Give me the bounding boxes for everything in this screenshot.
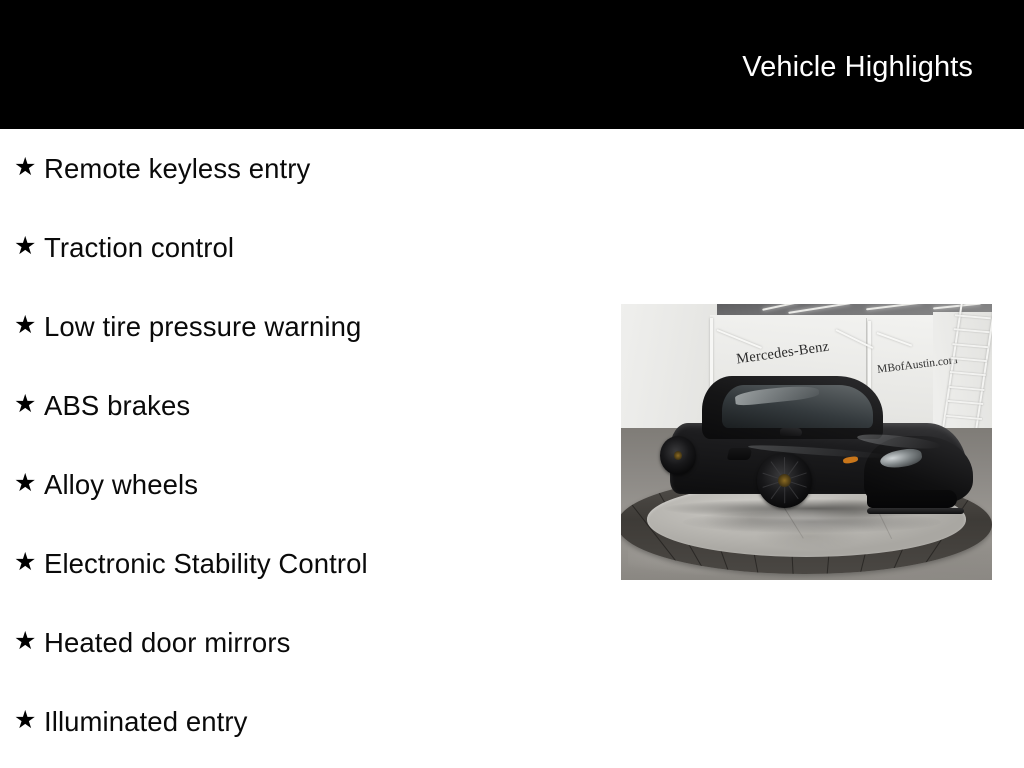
- rear-wheel: [660, 436, 696, 475]
- star-bullet-icon: ★: [14, 471, 44, 496]
- highlight-label: Remote keyless entry: [44, 153, 310, 185]
- ladder-rung: [952, 343, 989, 348]
- star-bullet-icon: ★: [14, 155, 44, 180]
- vehicle-highlights-page: Vehicle Highlights ★ Remote keyless entr…: [0, 0, 1024, 768]
- vehicle-highlights-list: ★ Remote keyless entry ★ Traction contro…: [0, 129, 600, 761]
- highlight-label: Illuminated entry: [44, 706, 247, 738]
- star-bullet-icon: ★: [14, 550, 44, 575]
- page-title: Vehicle Highlights: [742, 50, 973, 84]
- ceiling-light: [762, 304, 799, 311]
- list-item: ★ Illuminated entry: [0, 682, 600, 761]
- highlight-label: Traction control: [44, 232, 234, 264]
- ceiling-light: [788, 304, 851, 314]
- star-bullet-icon: ★: [14, 708, 44, 733]
- list-item: ★ Alloy wheels: [0, 445, 600, 524]
- vehicle-car: [651, 376, 974, 514]
- list-item: ★ Electronic Stability Control: [0, 524, 600, 603]
- wheel-hub: [674, 451, 683, 460]
- list-item: ★ Traction control: [0, 208, 600, 287]
- list-item: ★ Heated door mirrors: [0, 603, 600, 682]
- car-reflection: [683, 511, 941, 533]
- list-item: ★ Remote keyless entry: [0, 129, 600, 208]
- page-header: Vehicle Highlights: [0, 0, 1024, 129]
- list-item: ★ Low tire pressure warning: [0, 287, 600, 366]
- ladder-rung: [951, 357, 988, 362]
- highlight-label: ABS brakes: [44, 390, 190, 422]
- highlight-label: Alloy wheels: [44, 469, 198, 501]
- side-mirror: [780, 428, 803, 436]
- star-bullet-icon: ★: [14, 234, 44, 259]
- ceiling-light: [866, 304, 921, 311]
- highlight-label: Heated door mirrors: [44, 627, 290, 659]
- side-air-intake: [727, 448, 752, 460]
- highlight-label: Low tire pressure warning: [44, 311, 361, 343]
- vehicle-photo: Mercedes-Benz of Austin MBofAustin.com: [621, 304, 992, 580]
- star-bullet-icon: ★: [14, 629, 44, 654]
- star-bullet-icon: ★: [14, 313, 44, 338]
- front-grille: [867, 490, 957, 508]
- front-splitter: [867, 508, 964, 514]
- ladder-rung: [954, 328, 991, 333]
- star-bullet-icon: ★: [14, 392, 44, 417]
- highlight-label: Electronic Stability Control: [44, 548, 368, 580]
- showroom-scene: Mercedes-Benz of Austin MBofAustin.com: [621, 304, 992, 580]
- list-item: ★ ABS brakes: [0, 366, 600, 445]
- front-wheel: [757, 453, 812, 508]
